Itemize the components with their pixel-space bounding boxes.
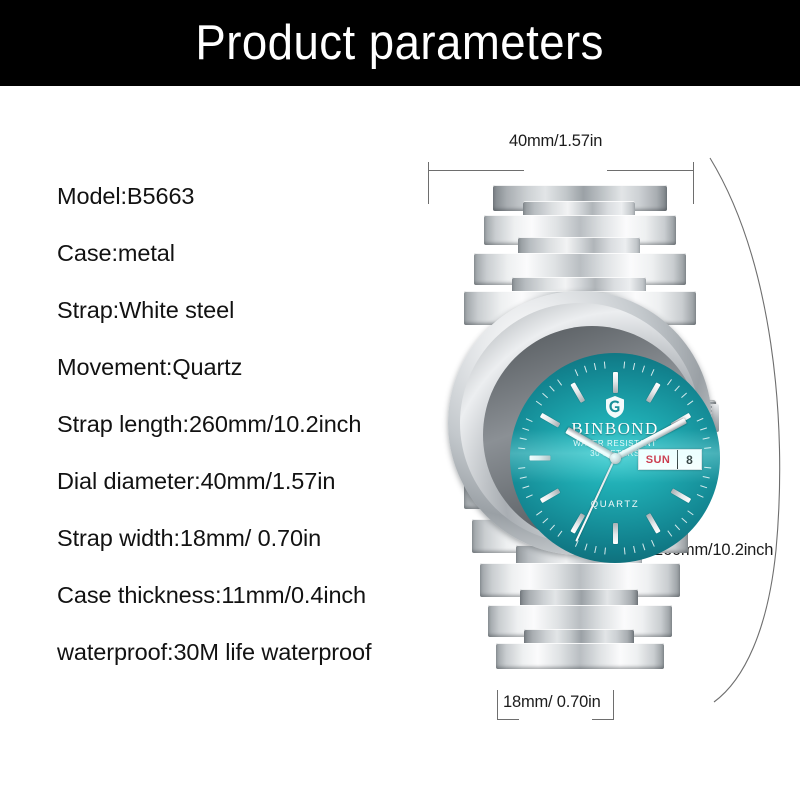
dimension-line-dial-width-right bbox=[607, 170, 693, 171]
dial-minute-tick bbox=[604, 361, 606, 368]
spec-row-case-thickness: Case thickness:11mm/0.4inch bbox=[57, 567, 477, 624]
spec-list: Model:B5663 Case:metal Strap:White steel… bbox=[57, 168, 477, 681]
dial-minute-tick bbox=[557, 379, 562, 385]
dial-minute-tick bbox=[584, 366, 587, 373]
dial-hour-marker bbox=[613, 372, 618, 393]
dial-minute-tick bbox=[542, 393, 548, 399]
dial-minute-tick bbox=[594, 546, 597, 553]
dial-minute-tick bbox=[557, 530, 562, 536]
dial-minute-tick bbox=[633, 363, 636, 370]
spec-row-strap-length: Strap length:260mm/10.2inch bbox=[57, 396, 477, 453]
dial-minute-tick bbox=[550, 524, 556, 530]
watch-product-image: BINBOND WATER RESISTANT 30 METERS QUARTZ… bbox=[430, 185, 730, 695]
dimension-tick-dial-width-left bbox=[428, 162, 429, 204]
dial-minute-tick bbox=[667, 530, 672, 536]
dial-minute-tick bbox=[651, 369, 655, 376]
spec-row-waterproof: waterproof:30M life waterproof bbox=[57, 624, 477, 681]
spec-row-movement: Movement:Quartz bbox=[57, 339, 477, 396]
dial-minute-tick bbox=[681, 518, 687, 524]
dimension-line-strap-width-left bbox=[497, 719, 519, 720]
dial-minute-tick bbox=[651, 540, 655, 547]
dial-hour-marker bbox=[613, 523, 618, 544]
dial-minute-tick bbox=[700, 485, 707, 488]
dial-minute-tick bbox=[642, 543, 645, 550]
dial-minute-tick bbox=[667, 379, 672, 385]
dimension-line-strap-width-right bbox=[592, 719, 613, 720]
dimension-label-strap-width: 18mm/ 0.70in bbox=[503, 693, 601, 712]
spec-row-dial-diameter: Dial diameter:40mm/1.57in bbox=[57, 453, 477, 510]
dial-minute-tick bbox=[675, 524, 681, 530]
spec-row-model: Model:B5663 bbox=[57, 168, 477, 225]
dial-brand-text: BINBOND bbox=[510, 419, 720, 439]
brand-crest-icon bbox=[604, 395, 626, 419]
spec-row-strap: Strap:White steel bbox=[57, 282, 477, 339]
dial-hour-marker bbox=[645, 382, 660, 403]
header-banner: Product parameters bbox=[0, 0, 800, 86]
dial-minute-tick bbox=[633, 546, 636, 553]
dial-minute-tick bbox=[697, 494, 704, 498]
product-parameters-page: Product parameters Model:B5663 Case:meta… bbox=[0, 0, 800, 800]
dial-minute-tick bbox=[550, 385, 556, 391]
dial-minute-tick bbox=[687, 400, 693, 405]
dial-minute-tick bbox=[526, 494, 533, 498]
dial-minute-tick bbox=[520, 476, 527, 479]
dial-minute-tick bbox=[704, 467, 711, 469]
dial-minute-tick bbox=[687, 510, 693, 515]
dial-day-value: SUN bbox=[639, 450, 677, 469]
dial-minute-tick bbox=[584, 543, 587, 550]
dial-movement-text: QUARTZ bbox=[510, 499, 720, 510]
dial-minute-tick bbox=[624, 361, 626, 368]
page-title: Product parameters bbox=[196, 19, 605, 68]
watch-bezel: BINBOND WATER RESISTANT 30 METERS QUARTZ… bbox=[460, 303, 700, 543]
dial-date-value: 8 bbox=[677, 450, 701, 469]
watch-case: BINBOND WATER RESISTANT 30 METERS QUARTZ… bbox=[448, 291, 712, 555]
dial-hour-marker bbox=[645, 513, 660, 534]
dial-minute-tick bbox=[518, 467, 525, 469]
dial-minute-tick bbox=[523, 485, 530, 488]
dial-minute-tick bbox=[624, 547, 626, 554]
dial-minute-tick bbox=[594, 363, 597, 370]
dial-minute-tick bbox=[675, 385, 681, 391]
bracelet-link bbox=[496, 643, 664, 669]
dial-minute-tick bbox=[604, 547, 606, 554]
dimension-label-dial-width: 40mm/1.57in bbox=[509, 132, 602, 151]
dial-day-date-window: SUN 8 bbox=[638, 449, 702, 470]
water-resistance-line-1: WATER RESISTANT bbox=[510, 439, 720, 449]
dial-minute-tick bbox=[575, 369, 579, 376]
dial-minute-tick bbox=[703, 476, 710, 479]
dial-minute-tick bbox=[542, 518, 548, 524]
spec-row-case: Case:metal bbox=[57, 225, 477, 282]
watch-inner-ring: BINBOND WATER RESISTANT 30 METERS QUARTZ… bbox=[483, 326, 701, 544]
dial-minute-tick bbox=[536, 510, 542, 515]
hands-center-cap bbox=[610, 453, 621, 464]
dial-minute-tick bbox=[681, 393, 687, 399]
dial-minute-tick bbox=[536, 400, 542, 405]
spec-row-strap-width: Strap width:18mm/ 0.70in bbox=[57, 510, 477, 567]
dial-minute-tick bbox=[642, 366, 645, 373]
dimension-line-dial-width-left bbox=[428, 170, 524, 171]
dial-hour-marker bbox=[570, 382, 585, 403]
watch-dial: BINBOND WATER RESISTANT 30 METERS QUARTZ… bbox=[510, 353, 720, 563]
